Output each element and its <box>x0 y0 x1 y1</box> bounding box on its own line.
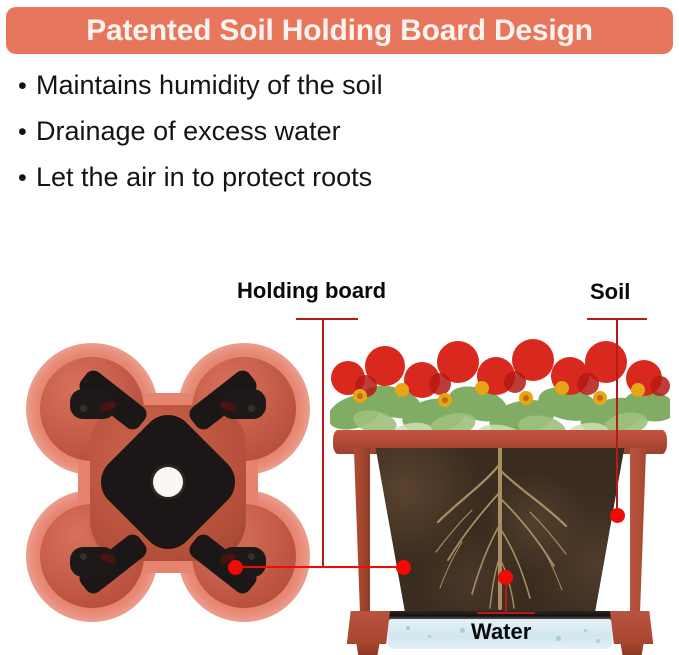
holding-board-pin <box>248 405 255 412</box>
holding-board-pin <box>80 405 87 412</box>
plant-roots <box>352 448 648 616</box>
list-item: • Drainage of excess water <box>18 118 638 164</box>
callout-marker-holding-board-left <box>228 560 243 575</box>
callout-marker-soil <box>610 508 625 523</box>
page-title-banner: Patented Soil Holding Board Design <box>6 7 673 54</box>
callout-line-water <box>505 580 507 613</box>
list-item-label: Maintains humidity of the soil <box>36 72 383 99</box>
water-fleck <box>428 635 431 638</box>
feature-list: • Maintains humidity of the soil • Drain… <box>18 72 638 210</box>
callout-marker-holding-board-right <box>396 560 411 575</box>
water-fleck <box>406 626 410 630</box>
callout-tick-holding-board <box>296 318 358 320</box>
holding-board-pin <box>248 553 255 560</box>
page-title: Patented Soil Holding Board Design <box>86 16 593 46</box>
callout-branch-holding-board <box>236 566 410 568</box>
list-item-label: Drainage of excess water <box>36 118 341 145</box>
list-item-label: Let the air in to protect roots <box>36 164 372 191</box>
holding-board-pin <box>80 553 87 560</box>
water-fleck <box>584 629 587 632</box>
planter-leg-left <box>342 611 390 655</box>
callout-line-holding-board <box>322 318 324 567</box>
callout-label-holding-board: Holding board <box>237 280 386 302</box>
water-fleck <box>460 628 465 633</box>
list-item: • Maintains humidity of the soil <box>18 72 638 118</box>
callout-line-soil <box>616 318 618 518</box>
planter-leg-right <box>610 611 658 655</box>
holding-board-drain-hole <box>153 467 183 497</box>
holding-board-top-view <box>70 381 266 583</box>
water-fleck <box>596 639 600 643</box>
list-item: • Let the air in to protect roots <box>18 164 638 210</box>
bullet-icon: • <box>18 74 36 99</box>
callout-label-soil: Soil <box>590 281 630 303</box>
bullet-icon: • <box>18 120 36 145</box>
callout-label-water: Water <box>471 621 531 643</box>
callout-tick-water <box>477 612 535 614</box>
roots-svg <box>352 448 648 616</box>
pot-top-view-illustration <box>18 335 318 630</box>
product-diagram: Holding board Soil Water <box>0 250 679 652</box>
bullet-icon: • <box>18 166 36 191</box>
water-fleck <box>556 636 561 641</box>
